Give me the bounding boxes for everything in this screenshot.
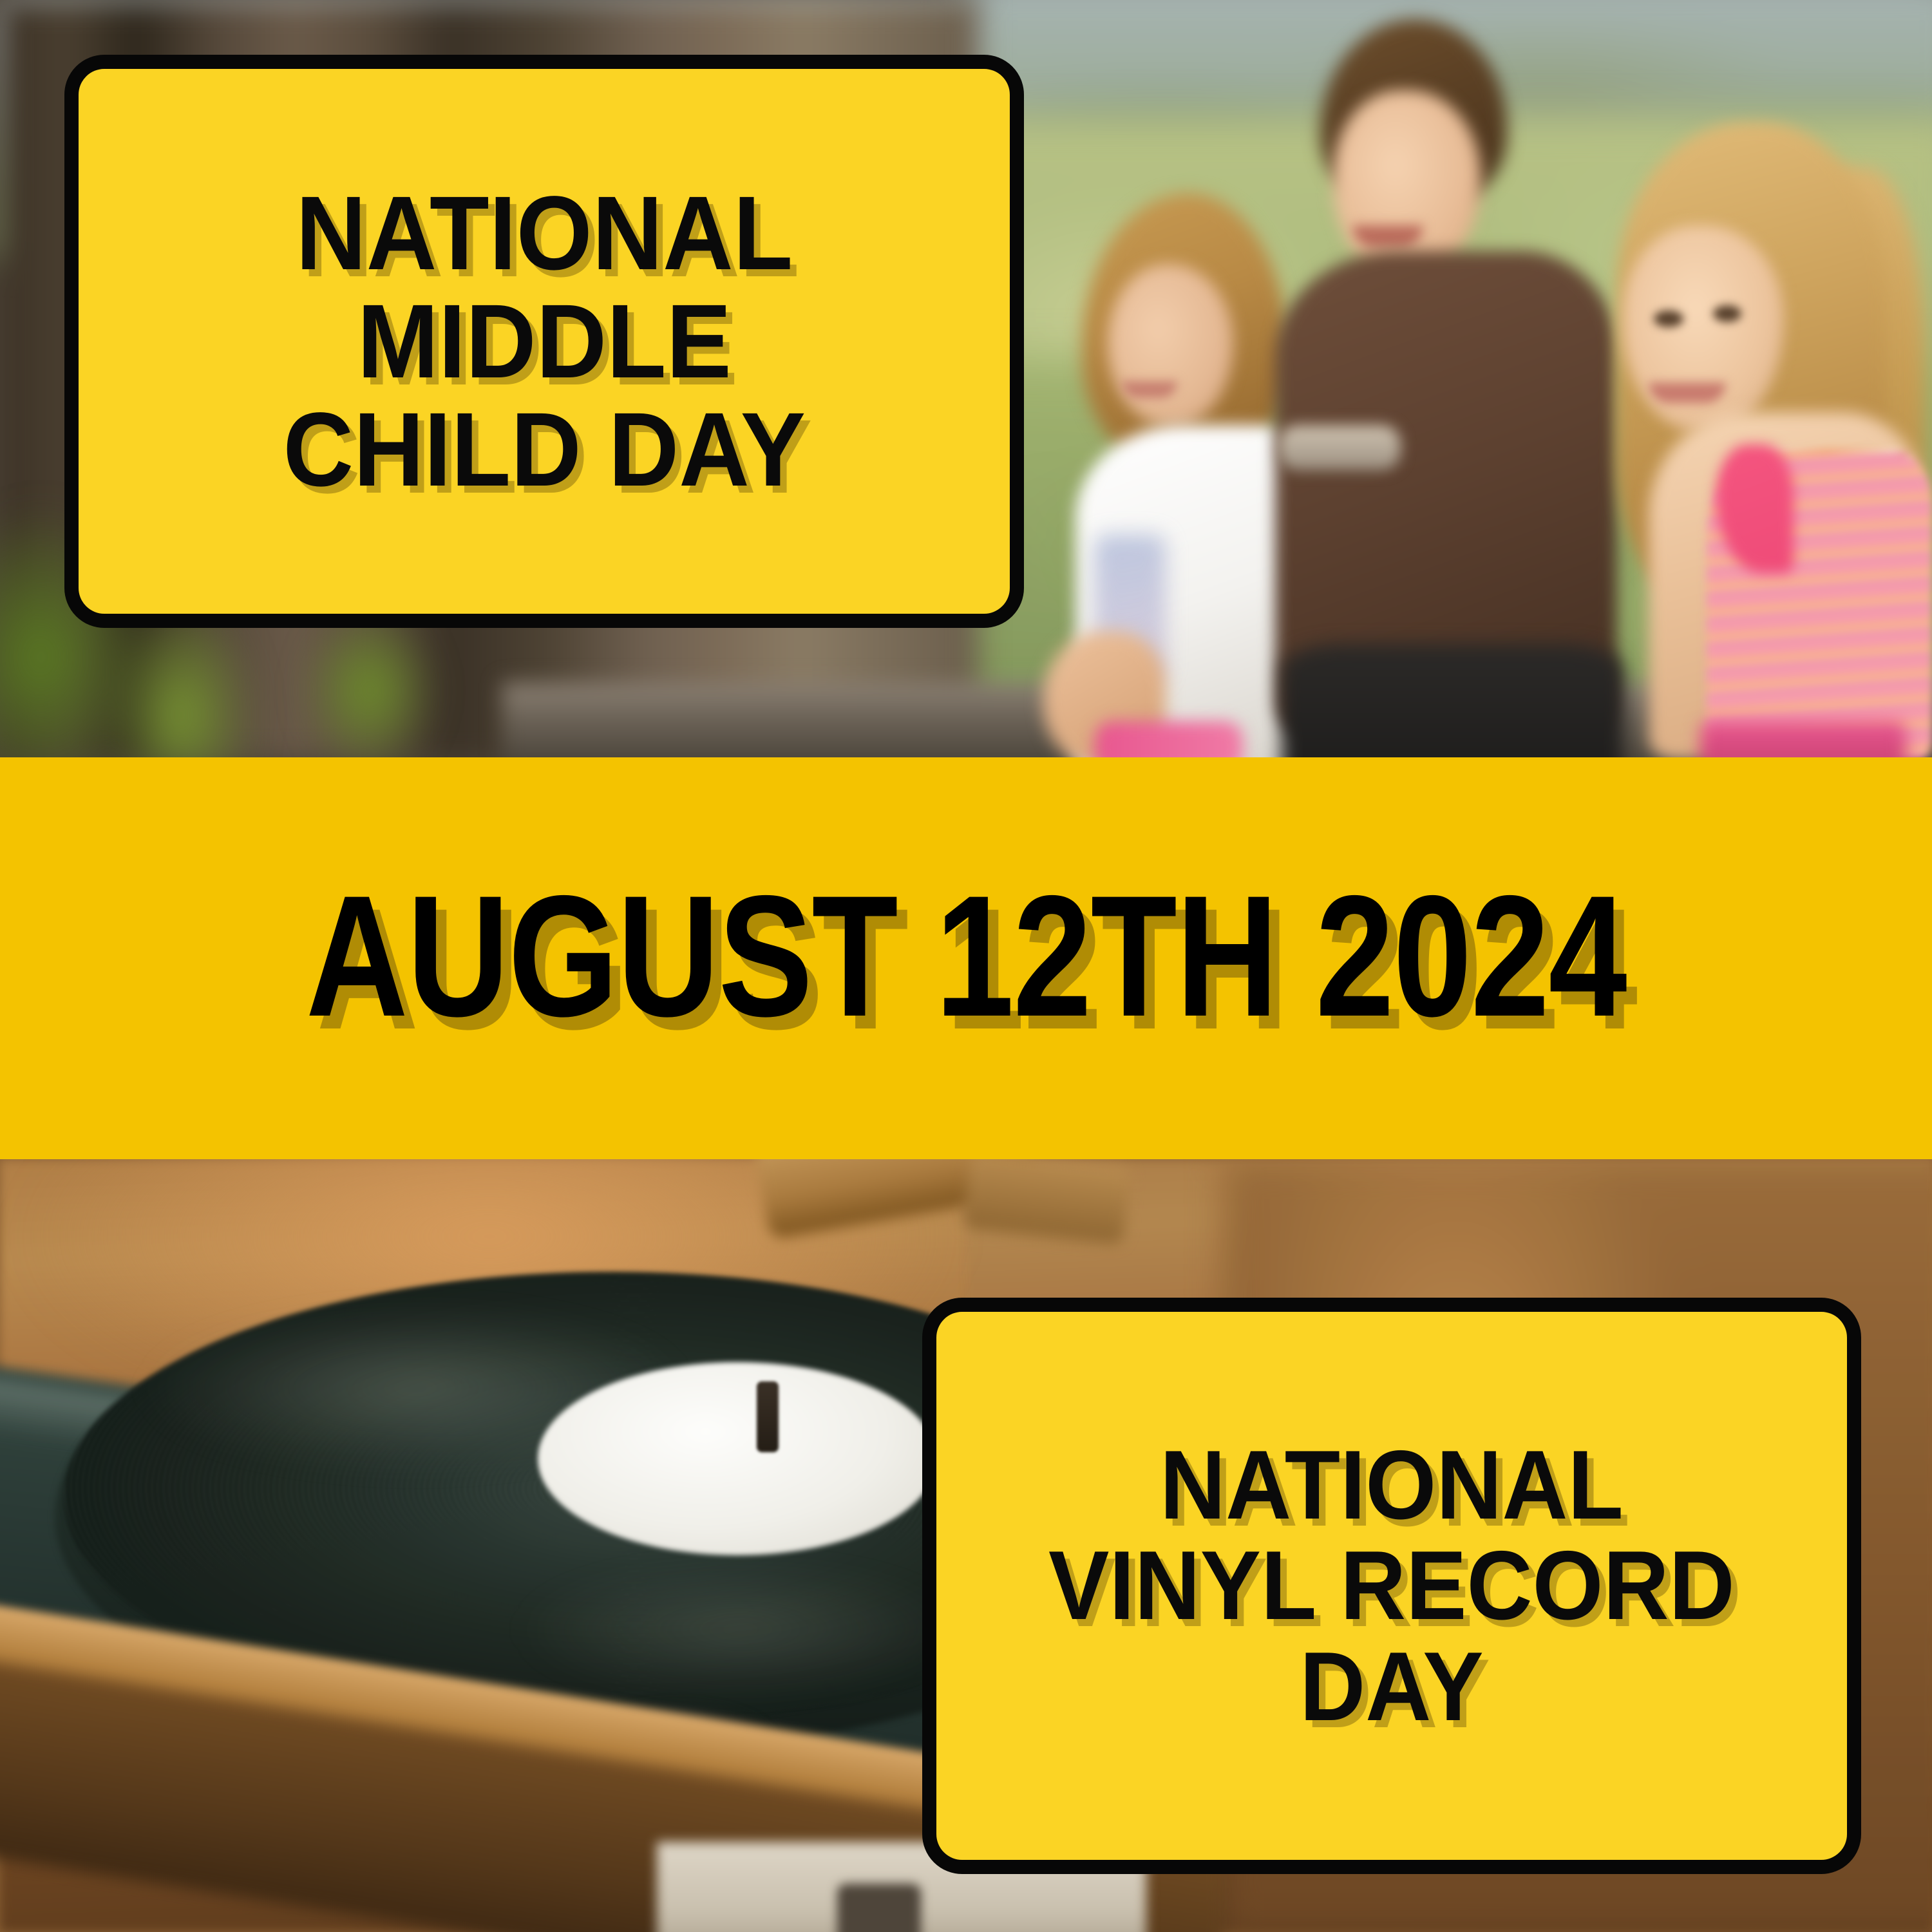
sign-national-vinyl-record-day[interactable]: NATIONAL VINYL RECORD DAY — [922, 1298, 1861, 1874]
turntable-spindle — [757, 1381, 779, 1452]
child-left-pink-shorts — [1095, 721, 1243, 760]
child-right-eye-right — [1713, 305, 1741, 322]
child-center-sleeve-cuff — [1278, 425, 1401, 470]
child-center-smile — [1352, 225, 1423, 247]
child-center-face — [1333, 90, 1481, 277]
child-center-dark-pants — [1282, 644, 1623, 760]
child-right-smile — [1649, 383, 1726, 403]
child-right-tank-hem — [1700, 721, 1906, 760]
record-sleeve-cutout — [837, 1884, 921, 1932]
date-text: AUGUST 12TH 2024 — [306, 869, 1626, 1047]
child-left-face — [1108, 264, 1233, 425]
sign-bottom-label: NATIONAL VINYL RECORD DAY — [1048, 1435, 1735, 1738]
child-left-smile — [1122, 381, 1177, 398]
date-banner: AUGUST 12TH 2024 — [0, 757, 1932, 1159]
child-right-eye-left — [1654, 310, 1683, 327]
poster-canvas: AUGUST 12TH 2024 NATIONAL MIDDLE CHILD D… — [0, 0, 1932, 1932]
sign-national-middle-child-day[interactable]: NATIONAL MIDDLE CHILD DAY — [64, 55, 1024, 628]
vinyl-record-label — [538, 1362, 937, 1555]
sign-top-label: NATIONAL MIDDLE CHILD DAY — [283, 179, 805, 504]
